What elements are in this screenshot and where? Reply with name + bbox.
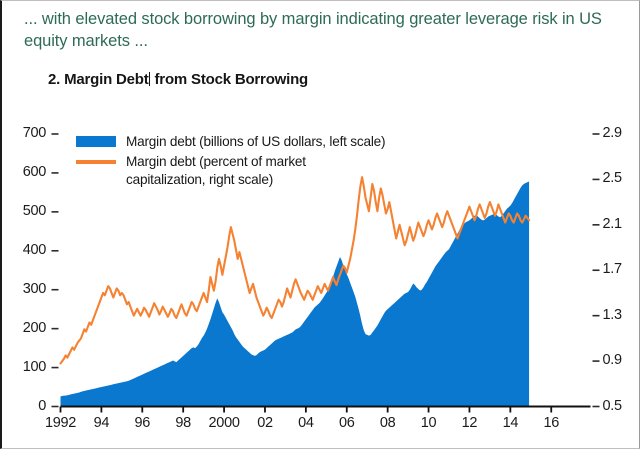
right-axis-tick-label: 1.3 xyxy=(603,307,640,323)
x-axis-tick-label: 06 xyxy=(325,415,369,431)
left-axis-tick-label: 0 xyxy=(12,398,46,414)
left-axis-tick-label: 100 xyxy=(12,359,46,375)
x-axis-tick-label: 10 xyxy=(407,415,451,431)
legend-swatch-box-icon xyxy=(76,136,116,147)
chart-plot-area xyxy=(2,1,640,450)
x-axis-tick-label: 12 xyxy=(447,415,491,431)
x-axis-tick-label: 16 xyxy=(529,415,573,431)
legend-item-label: Margin debt (percent of market capitaliz… xyxy=(126,153,336,188)
left-axis-tick-label: 300 xyxy=(12,281,46,297)
x-axis-tick-label: 98 xyxy=(161,415,205,431)
right-axis-tick-label: 0.5 xyxy=(603,398,640,414)
right-axis-tick-label: 0.9 xyxy=(603,352,640,368)
left-axis-tick-label: 200 xyxy=(12,320,46,336)
x-axis-tick-label: 02 xyxy=(243,415,287,431)
legend-item: Margin debt (billions of US dollars, lef… xyxy=(76,133,385,150)
left-axis-tick-label: 600 xyxy=(12,164,46,180)
chart-legend: Margin debt (billions of US dollars, lef… xyxy=(76,133,385,191)
right-axis-tick-label: 2.9 xyxy=(603,125,640,141)
left-axis-tick-label: 700 xyxy=(12,125,46,141)
figure-frame: ... with elevated stock borrowing by mar… xyxy=(0,0,640,449)
x-axis-tick-label: 08 xyxy=(366,415,410,431)
right-axis-tick-label: 2.1 xyxy=(603,216,640,232)
x-axis-tick-label: 1992 xyxy=(38,415,84,431)
chart-svg xyxy=(2,1,640,450)
x-axis-tick-label: 2000 xyxy=(201,415,247,431)
legend-item: Margin debt (percent of market capitaliz… xyxy=(76,153,385,188)
legend-swatch-line-icon xyxy=(76,160,116,164)
series-area-margin-debt-billions xyxy=(61,181,530,406)
left-axis-tick-label: 400 xyxy=(12,242,46,258)
x-axis-tick-label: 94 xyxy=(79,415,123,431)
right-axis-tick-label: 1.7 xyxy=(603,261,640,277)
x-axis-tick-label: 14 xyxy=(488,415,532,431)
x-axis-tick-label: 96 xyxy=(120,415,164,431)
right-axis-tick-label: 2.5 xyxy=(603,170,640,186)
legend-item-label: Margin debt (billions of US dollars, lef… xyxy=(126,133,385,150)
x-axis-tick-label: 04 xyxy=(284,415,328,431)
left-axis-tick-label: 500 xyxy=(12,203,46,219)
